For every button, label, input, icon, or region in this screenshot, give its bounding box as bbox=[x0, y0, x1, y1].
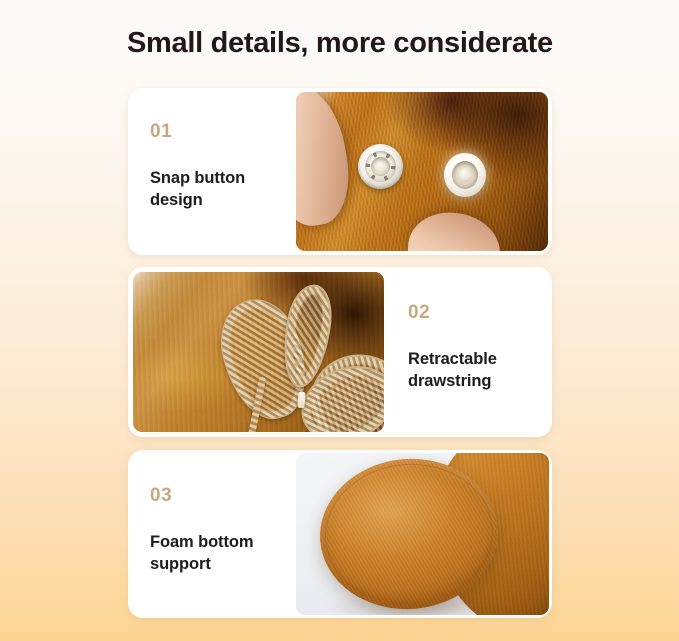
detail-card-3[interactable]: 03 Foam bottom support bbox=[128, 450, 552, 618]
card-3-number: 03 bbox=[150, 486, 296, 505]
detail-card-1[interactable]: 01 Snap button design bbox=[128, 88, 552, 255]
card-2-text-pane: 02 Retractable drawstring bbox=[384, 267, 552, 437]
page-title: Small details, more considerate bbox=[127, 27, 553, 60]
finger-top-left bbox=[296, 92, 356, 231]
drawstring-photo bbox=[133, 272, 384, 432]
card-3-text-pane: 03 Foam bottom support bbox=[128, 450, 296, 618]
detail-card-2[interactable]: 02 Retractable drawstring bbox=[128, 267, 552, 437]
card-1-label: Snap button design bbox=[150, 168, 296, 212]
card-2-label: Retractable drawstring bbox=[408, 349, 552, 393]
card-3-label: Foam bottom support bbox=[150, 532, 296, 576]
foam-sole-photo bbox=[296, 453, 549, 615]
snap-button-right-icon bbox=[444, 153, 486, 197]
finger-bottom-right bbox=[404, 208, 503, 251]
snap-button-photo bbox=[296, 92, 548, 251]
card-2-number: 02 bbox=[408, 303, 552, 322]
card-1-text-pane: 01 Snap button design bbox=[128, 88, 296, 255]
drawstring-eyelet bbox=[297, 392, 305, 408]
snap-button-slots bbox=[358, 144, 403, 189]
card-1-number: 01 bbox=[150, 122, 296, 141]
snap-button-left-icon bbox=[358, 144, 403, 189]
